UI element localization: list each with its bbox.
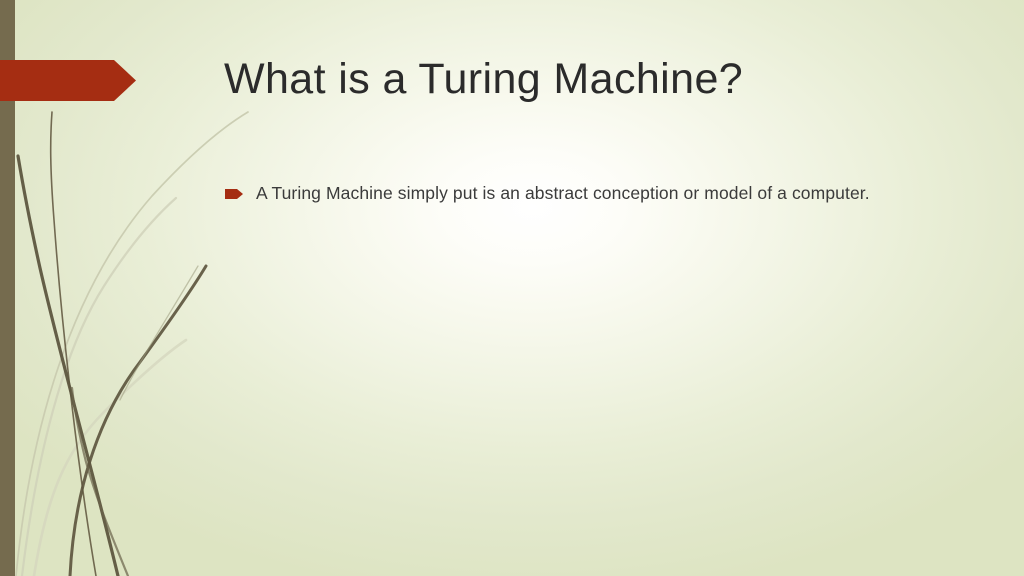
list-item: A Turing Machine simply put is an abstra… [224, 180, 914, 207]
slide-title: What is a Turing Machine? [224, 52, 944, 106]
grass-blade-icon [70, 266, 206, 576]
slide-body: A Turing Machine simply put is an abstra… [224, 180, 914, 207]
grass-blade-icon [16, 112, 248, 576]
grass-blade-icon [120, 266, 198, 400]
title-accent-arrow-icon [0, 60, 136, 101]
list-item-text: A Turing Machine simply put is an abstra… [256, 180, 914, 207]
slide: What is a Turing Machine? A Turing Machi… [0, 0, 1024, 576]
bullet-arrow-icon [225, 189, 243, 199]
